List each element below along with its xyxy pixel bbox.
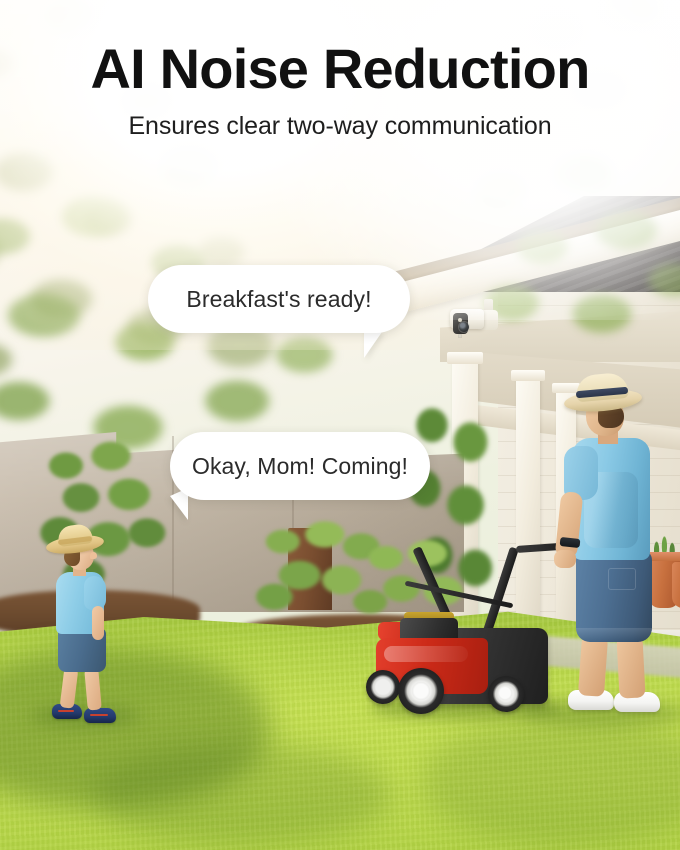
lawn-shadow-foreground bbox=[92, 744, 392, 844]
camera-body bbox=[450, 309, 484, 329]
boy-shoe-stripe-left bbox=[58, 710, 74, 712]
speech-bubble-boy: Okay, Mom! Coming! bbox=[170, 432, 430, 500]
lawnmower-deck-highlight bbox=[384, 646, 468, 662]
camera-ir-led-top bbox=[458, 318, 462, 322]
boy-sleeve bbox=[84, 576, 106, 610]
lawnmower-wheel-hub-rear bbox=[498, 686, 512, 700]
speech-bubble-1-text: Breakfast's ready! bbox=[186, 286, 371, 313]
boy-shoe-stripe-right bbox=[90, 714, 108, 716]
man-leg-left bbox=[578, 635, 608, 697]
man-hand bbox=[554, 550, 576, 568]
lawnmower-wheel-hub-front bbox=[412, 682, 430, 700]
man-leg-right bbox=[616, 635, 645, 698]
camera-lens-housing bbox=[453, 313, 468, 334]
speech-bubble-mom: Breakfast's ready! bbox=[148, 265, 410, 333]
camera-ir-led-bottom bbox=[458, 334, 462, 338]
boy-face-profile bbox=[90, 552, 97, 559]
man-shorts-pocket bbox=[608, 568, 636, 590]
man-figure bbox=[530, 372, 660, 732]
man-shorts-hem bbox=[576, 628, 652, 642]
promo-banner: Breakfast's ready! Okay, Mom! Coming! AI… bbox=[0, 0, 680, 850]
page-subtitle: Ensures clear two-way communication bbox=[0, 112, 680, 141]
boy-figure bbox=[40, 522, 132, 722]
boy-leg-left bbox=[60, 667, 79, 708]
page-title: AI Noise Reduction bbox=[0, 40, 680, 99]
speech-bubble-2-text: Okay, Mom! Coming! bbox=[192, 453, 408, 480]
boy-arm bbox=[92, 606, 104, 640]
lawnmower-wheel-far bbox=[366, 670, 400, 704]
man-wristwatch bbox=[560, 537, 581, 548]
boy-leg-right bbox=[84, 667, 102, 710]
terracotta-planter-2 bbox=[672, 562, 680, 608]
camera-lens bbox=[459, 322, 469, 332]
security-camera bbox=[444, 304, 500, 338]
